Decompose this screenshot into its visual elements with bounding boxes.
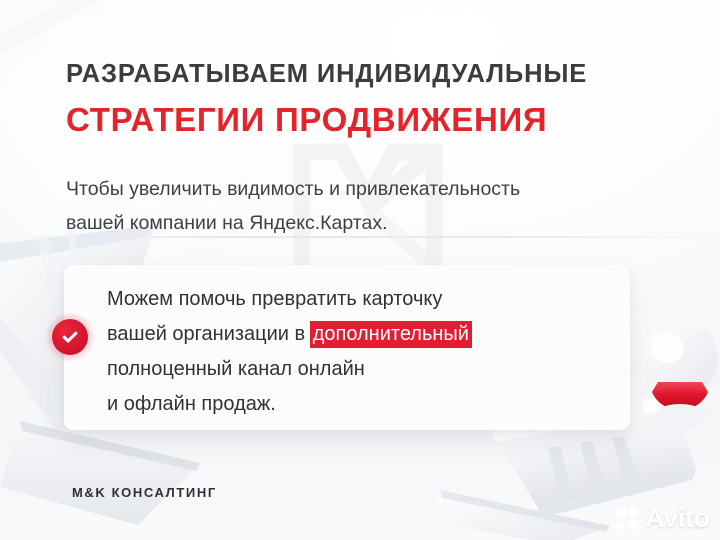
card-line-3: полноценный канал онлайн xyxy=(107,352,471,387)
headline-line-2: СТРАТЕГИИ ПРОДВИЖЕНИЯ xyxy=(66,101,547,139)
check-badge-circle xyxy=(52,319,88,355)
card-line-1: Можем помочь превратить карточку xyxy=(107,282,471,317)
avito-dots-icon xyxy=(613,505,640,532)
message-card-text: Можем помочь превратить карточку вашей о… xyxy=(107,282,471,422)
check-icon xyxy=(60,327,80,347)
card-line-2-prefix: вашей организации в xyxy=(107,323,305,345)
brand-logo-text: M&K КОНСАЛТИНГ xyxy=(72,485,217,500)
avito-wordmark: Avito xyxy=(645,505,710,532)
check-badge xyxy=(45,312,95,362)
background-wash-left xyxy=(0,0,300,300)
message-card: Можем помочь превратить карточку вашей о… xyxy=(64,265,630,430)
card-line-4: и офлайн продаж. xyxy=(107,387,471,422)
highlighted-keyword: дополнительный xyxy=(310,321,472,348)
subtitle: Чтобы увеличить видимость и привлекатель… xyxy=(66,172,666,240)
subtitle-line-2: вашей компании на Яндекс.Картах. xyxy=(66,206,666,240)
subtitle-line-1: Чтобы увеличить видимость и привлекатель… xyxy=(66,172,666,206)
promo-poster: РАЗРАБАТЫВАЕМ ИНДИВИДУАЛЬНЫЕ СТРАТЕГИИ П… xyxy=(0,0,720,540)
headline-line-1: РАЗРАБАТЫВАЕМ ИНДИВИДУАЛЬНЫЕ xyxy=(66,60,587,89)
avito-watermark: Avito xyxy=(613,505,710,532)
card-line-2: вашей организации в дополнительный xyxy=(107,317,471,352)
